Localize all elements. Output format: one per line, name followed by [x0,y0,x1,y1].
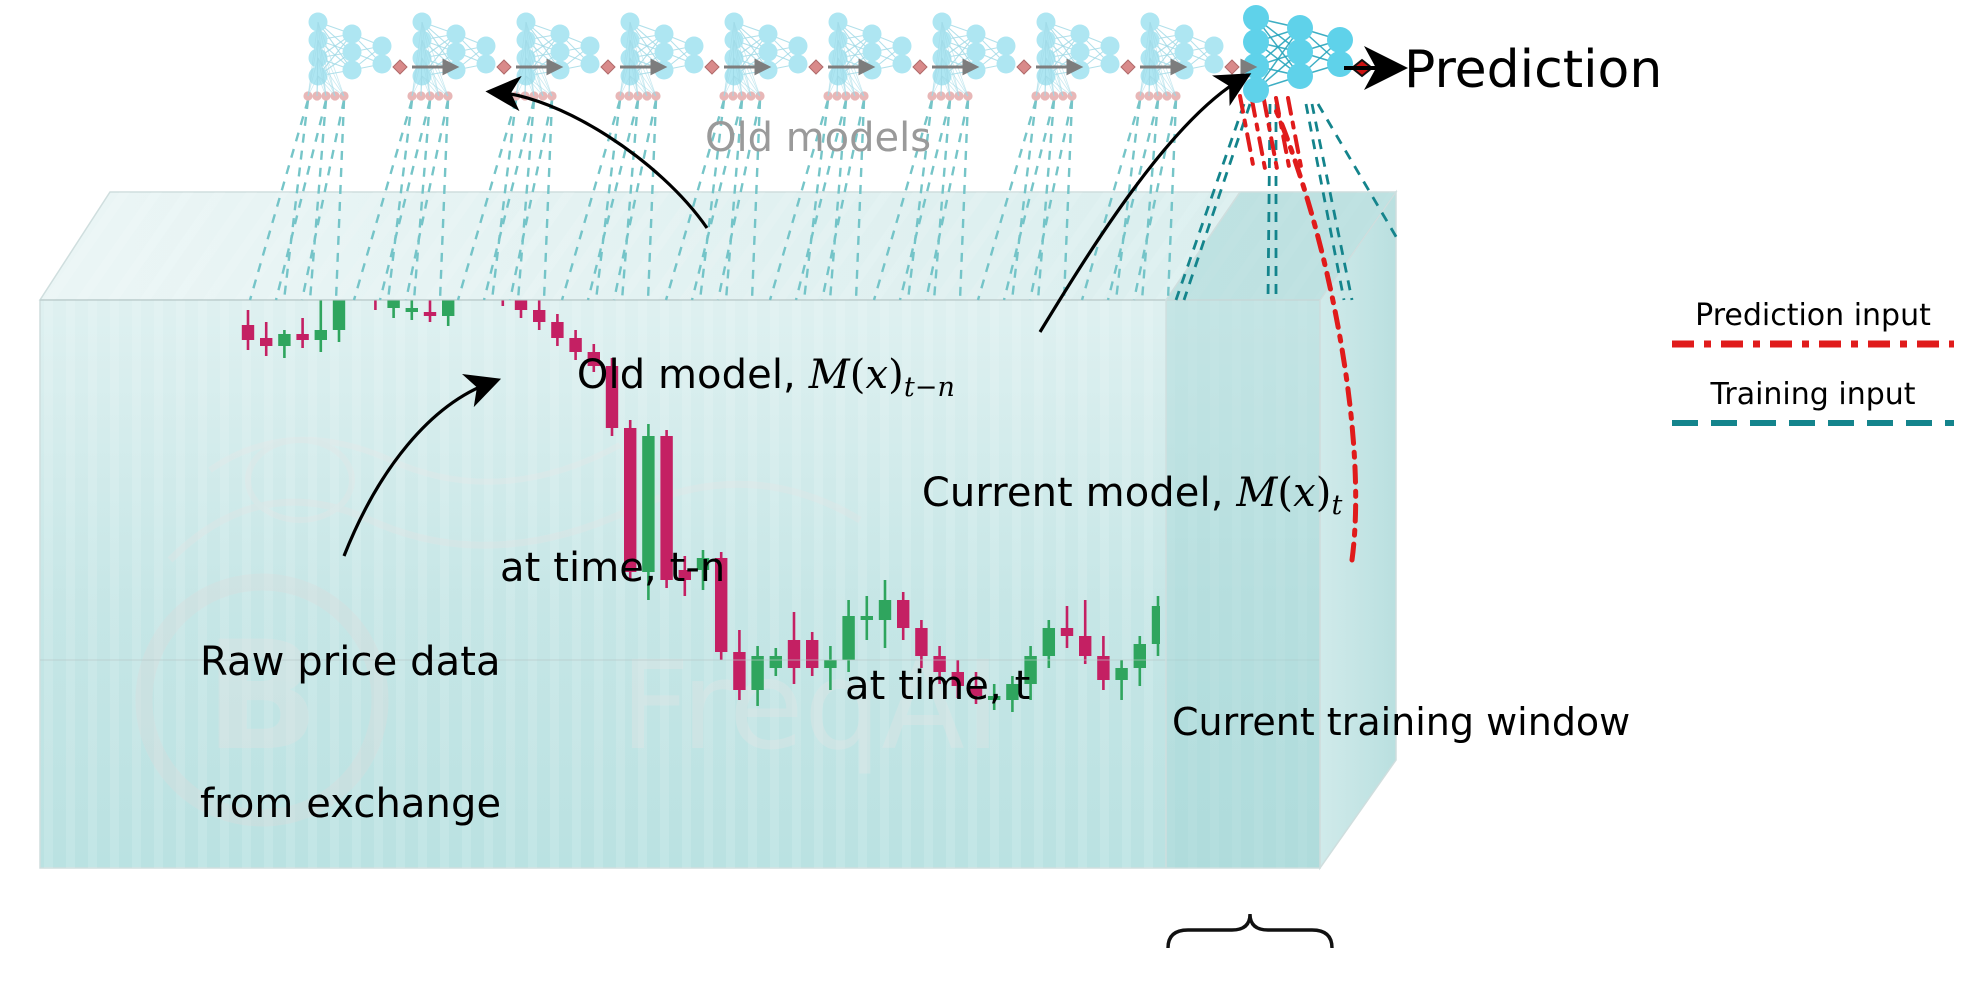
legend-swatch-training-input [1668,412,1958,434]
current-training-window-label: Current training window [1172,700,1630,744]
math-paren-close: ) [1316,470,1332,516]
legend-label-training-input: Training input [1668,377,1958,412]
math-M: M [1236,470,1277,516]
raw-price-line1: Raw price data [200,639,501,686]
legend-label-prediction-input: Prediction input [1668,298,1958,333]
legend-swatch-prediction-input [1668,333,1958,355]
legend: Prediction input Training input [1668,298,1958,438]
current-model-line1: Current model, M(x)t [845,422,1342,568]
diagram-canvas: B FreqAI [0,0,1966,981]
math-paren-open: ( [1277,470,1293,516]
legend-item-prediction-input: Prediction input [1668,298,1958,359]
math-subscript: t [1332,490,1343,521]
raw-price-annotation: Raw price data from exchange [200,545,501,923]
raw-price-line2: from exchange [200,781,501,828]
old-model-arrow [495,92,707,228]
raw-price-arrow [344,382,492,556]
prediction-label: Prediction [1404,40,1662,100]
old-models-label: Old models [705,115,931,161]
legend-item-training-input: Training input [1668,377,1958,438]
math-M: M [809,352,850,398]
current-model-arrow [1040,78,1243,332]
math-x: x [1293,470,1316,516]
